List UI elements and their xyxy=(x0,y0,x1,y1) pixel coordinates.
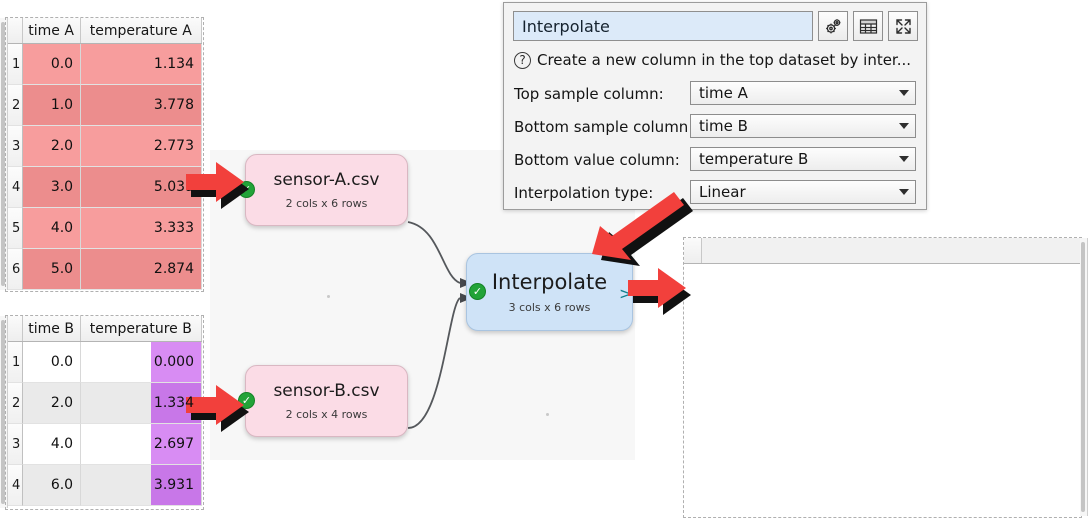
row-number-cell[interactable]: 6 xyxy=(6,249,23,290)
table-corner-cell xyxy=(6,316,23,341)
node-interpolate-subtitle: 3 cols x 6 rows xyxy=(509,302,591,313)
combo-bottom-sample-column-value: time B xyxy=(699,117,899,135)
table-sensor-b-body: 10.00.00022.01.33434.02.69746.03.931 xyxy=(6,342,202,506)
node-sensor-a-subtitle: 2 cols x 6 rows xyxy=(286,198,368,209)
dialog-title-input[interactable]: Interpolate xyxy=(513,11,813,41)
table-icon[interactable] xyxy=(853,11,883,41)
table-sensor-a-scrollbar[interactable] xyxy=(0,18,8,290)
table-sensor-b-scrollbar[interactable] xyxy=(0,316,8,508)
table-row[interactable]: 10.01.134 xyxy=(6,44,202,85)
table-cell[interactable]: 3.333 xyxy=(81,208,202,249)
table-cell[interactable]: 3.931 xyxy=(81,465,202,506)
node-sensor-a[interactable]: sensor-A.csv 2 cols x 6 rows xyxy=(245,154,408,226)
table-row[interactable]: 34.02.697 xyxy=(6,424,202,465)
table-row[interactable]: 43.05.039 xyxy=(6,167,202,208)
dialog-help-text: Create a new column in the top dataset b… xyxy=(537,51,911,69)
combo-top-sample-column[interactable]: time A xyxy=(690,81,916,105)
table-cell[interactable]: 1.334 xyxy=(81,383,202,424)
table-cell[interactable]: 2.773 xyxy=(81,126,202,167)
table-interpolate-result-header xyxy=(684,238,1080,264)
table-cell[interactable]: 0.0 xyxy=(23,342,81,383)
gears-glyph xyxy=(824,17,843,36)
row-number-cell[interactable]: 3 xyxy=(6,424,23,465)
arrow-to-sensor-a xyxy=(186,162,260,218)
table-sensor-a-body: 10.01.13421.03.77832.02.77343.05.03954.0… xyxy=(6,44,202,290)
cell-value: 2.697 xyxy=(154,436,194,452)
combo-bottom-sample-column[interactable]: time B xyxy=(690,114,916,138)
cell-value: 3.931 xyxy=(154,477,194,493)
table-cell[interactable]: 6.0 xyxy=(23,465,81,506)
table-row[interactable]: 54.03.333 xyxy=(6,208,202,249)
combo-bottom-value-column[interactable]: temperature B xyxy=(690,147,916,171)
cell-value: 0.000 xyxy=(154,354,194,370)
table-row[interactable]: 46.03.931 xyxy=(6,465,202,506)
table-corner-cell xyxy=(6,18,23,43)
node-sensor-a-title: sensor-A.csv xyxy=(273,172,379,189)
combo-interpolation-type[interactable]: Linear xyxy=(690,180,916,204)
table-cell[interactable]: 1.134 xyxy=(81,44,202,85)
combo-bottom-value-column-value: temperature B xyxy=(699,150,899,168)
chevron-down-icon xyxy=(899,156,909,162)
table-cell[interactable]: 3.0 xyxy=(23,167,81,208)
expand-glyph xyxy=(894,17,913,36)
label-bottom-value-column: Bottom value column: xyxy=(514,151,680,169)
column-header[interactable]: time B xyxy=(23,316,81,341)
row-number-cell[interactable]: 4 xyxy=(6,465,23,506)
node-sensor-b-title: sensor-B.csv xyxy=(273,383,379,400)
chevron-down-icon xyxy=(899,123,909,129)
row-number-cell[interactable]: 2 xyxy=(6,85,23,126)
table-row[interactable]: 65.02.874 xyxy=(6,249,202,290)
table-sensor-a[interactable]: time Atemperature A 10.01.13421.03.77832… xyxy=(6,18,202,290)
gears-icon[interactable] xyxy=(818,11,848,41)
table-glyph xyxy=(859,18,878,35)
table-cell[interactable]: 2.697 xyxy=(81,424,202,465)
table-cell[interactable]: 2.874 xyxy=(81,249,202,290)
table-cell[interactable]: 5.0 xyxy=(23,249,81,290)
dialog-help-row: ? Create a new column in the top dataset… xyxy=(514,48,918,72)
arrow-dialog-to-interpolate-node xyxy=(578,192,718,282)
row-number-cell[interactable]: 3 xyxy=(6,126,23,167)
node-sensor-b-subtitle: 2 cols x 4 rows xyxy=(286,409,368,420)
node-sensor-b[interactable]: sensor-B.csv 2 cols x 4 rows xyxy=(245,365,408,437)
table-cell[interactable]: 4.0 xyxy=(23,424,81,465)
row-number-cell[interactable]: 1 xyxy=(6,342,23,383)
table-cell[interactable]: 2.0 xyxy=(23,383,81,424)
column-header[interactable]: temperature A xyxy=(81,18,202,43)
label-bottom-sample-column: Bottom sample column: xyxy=(514,118,693,136)
table-interpolate-result[interactable] xyxy=(684,238,1080,516)
table-interpolate-result-scrollbar[interactable] xyxy=(1080,238,1088,516)
table-row[interactable]: 10.00.000 xyxy=(6,342,202,383)
row-number-cell[interactable]: 2 xyxy=(6,383,23,424)
column-header[interactable]: temperature B xyxy=(81,316,202,341)
table-cell[interactable]: 4.0 xyxy=(23,208,81,249)
table-cell[interactable]: 5.039 xyxy=(81,167,202,208)
chevron-down-icon xyxy=(899,189,909,195)
combo-top-sample-column-value: time A xyxy=(699,84,899,102)
label-top-sample-column: Top sample column: xyxy=(514,85,664,103)
arrow-to-sensor-b xyxy=(186,385,260,441)
dialog-title-row: Interpolate xyxy=(513,11,918,41)
row-number-cell[interactable]: 1 xyxy=(6,44,23,85)
row-number-cell[interactable]: 5 xyxy=(6,208,23,249)
table-sensor-a-header: time Atemperature A xyxy=(6,18,202,44)
table-cell[interactable]: 0.000 xyxy=(81,342,202,383)
table-cell[interactable]: 2.0 xyxy=(23,126,81,167)
column-header[interactable]: time A xyxy=(23,18,81,43)
question-icon[interactable]: ? xyxy=(514,52,531,69)
combo-interpolation-type-value: Linear xyxy=(699,183,899,201)
cell-value: 1.334 xyxy=(154,395,194,411)
properties-dialog[interactable]: Interpolate xyxy=(503,2,927,210)
table-sensor-b-header: time Btemperature B xyxy=(6,316,202,342)
table-cell[interactable]: 3.778 xyxy=(81,85,202,126)
table-cell[interactable]: 0.0 xyxy=(23,44,81,85)
row-number-cell[interactable]: 4 xyxy=(6,167,23,208)
table-row[interactable]: 32.02.773 xyxy=(6,126,202,167)
chevron-down-icon xyxy=(899,90,909,96)
expand-icon[interactable] xyxy=(888,11,918,41)
table-cell[interactable]: 1.0 xyxy=(23,85,81,126)
node-interpolate-status-icon: ✓ xyxy=(469,283,486,300)
table-row[interactable]: 22.01.334 xyxy=(6,383,202,424)
table-row[interactable]: 21.03.778 xyxy=(6,85,202,126)
table-sensor-b[interactable]: time Btemperature B 10.00.00022.01.33434… xyxy=(6,316,202,508)
